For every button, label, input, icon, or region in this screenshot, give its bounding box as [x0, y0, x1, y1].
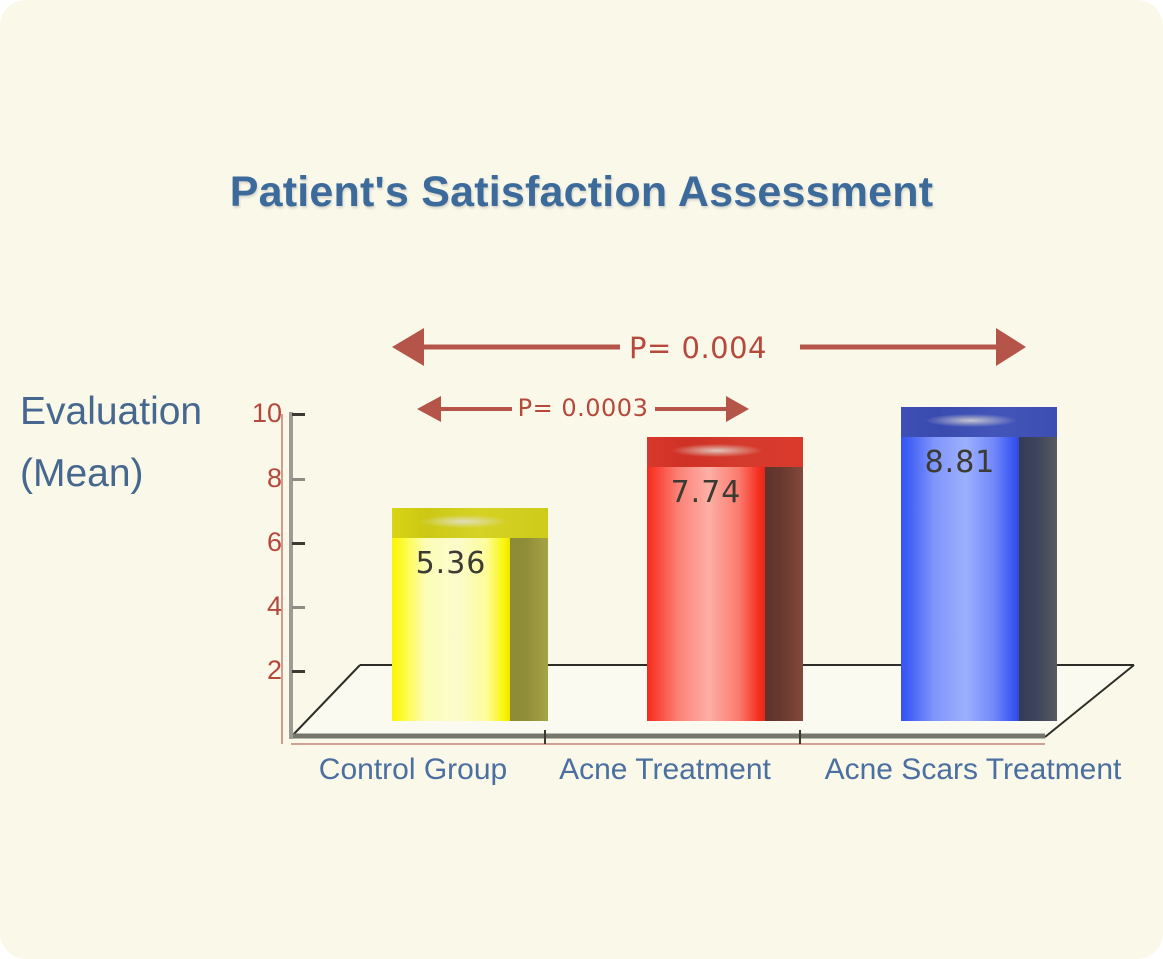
- y-tick-label-4: 4: [238, 593, 282, 620]
- y-axis-title-line1: Evaluation: [20, 381, 275, 443]
- y-tick-mark-10: [292, 413, 305, 416]
- bar-side-face: [765, 467, 803, 721]
- y-tick-mark-6: [292, 542, 305, 545]
- floor-right-edge: [1045, 665, 1134, 737]
- bar-value-label-acne: 7.74: [647, 475, 765, 510]
- y-tick-label-8: 8: [238, 465, 282, 492]
- bar-value-label-scars: 8.81: [901, 445, 1019, 480]
- p-value-label-outer: P= 0.004: [568, 331, 828, 365]
- bar-side-face: [510, 538, 548, 721]
- p-value-label-inner: P= 0.0003: [503, 394, 663, 422]
- page-title: Patient's Satisfaction Assessment: [0, 168, 1163, 217]
- x-label-acne-treatment: Acne Treatment: [540, 753, 790, 787]
- bar-top-face: [647, 437, 803, 467]
- bar-control-group: 5.36: [392, 508, 548, 721]
- y-tick-label-2: 2: [238, 657, 282, 684]
- bar-acne-treatment: 7.74: [647, 437, 803, 721]
- bar-acne-scars-treatment: 8.81: [901, 407, 1057, 721]
- y-axis-line: [289, 412, 293, 739]
- y-axis-title: Evaluation (Mean): [20, 381, 275, 505]
- bar-top-face: [392, 508, 548, 538]
- bar-value-label-control: 5.36: [392, 546, 510, 581]
- y-tick-mark-4: [292, 606, 305, 609]
- y-tick-label-10: 10: [238, 400, 282, 427]
- bar-top-face: [901, 407, 1057, 437]
- x-label-control-group: Control Group: [288, 753, 538, 787]
- chart-figure: Patient's Satisfaction Assessment Evalua…: [0, 0, 1163, 959]
- y-tick-mark-8: [292, 478, 305, 481]
- x-label-acne-scars-treatment: Acne Scars Treatment: [806, 753, 1140, 787]
- y-axis-title-line2: (Mean): [20, 443, 275, 505]
- y-tick-label-6: 6: [238, 529, 282, 556]
- bar-side-face: [1019, 437, 1057, 721]
- y-tick-mark-2: [292, 670, 305, 673]
- floor-left-edge: [291, 665, 360, 737]
